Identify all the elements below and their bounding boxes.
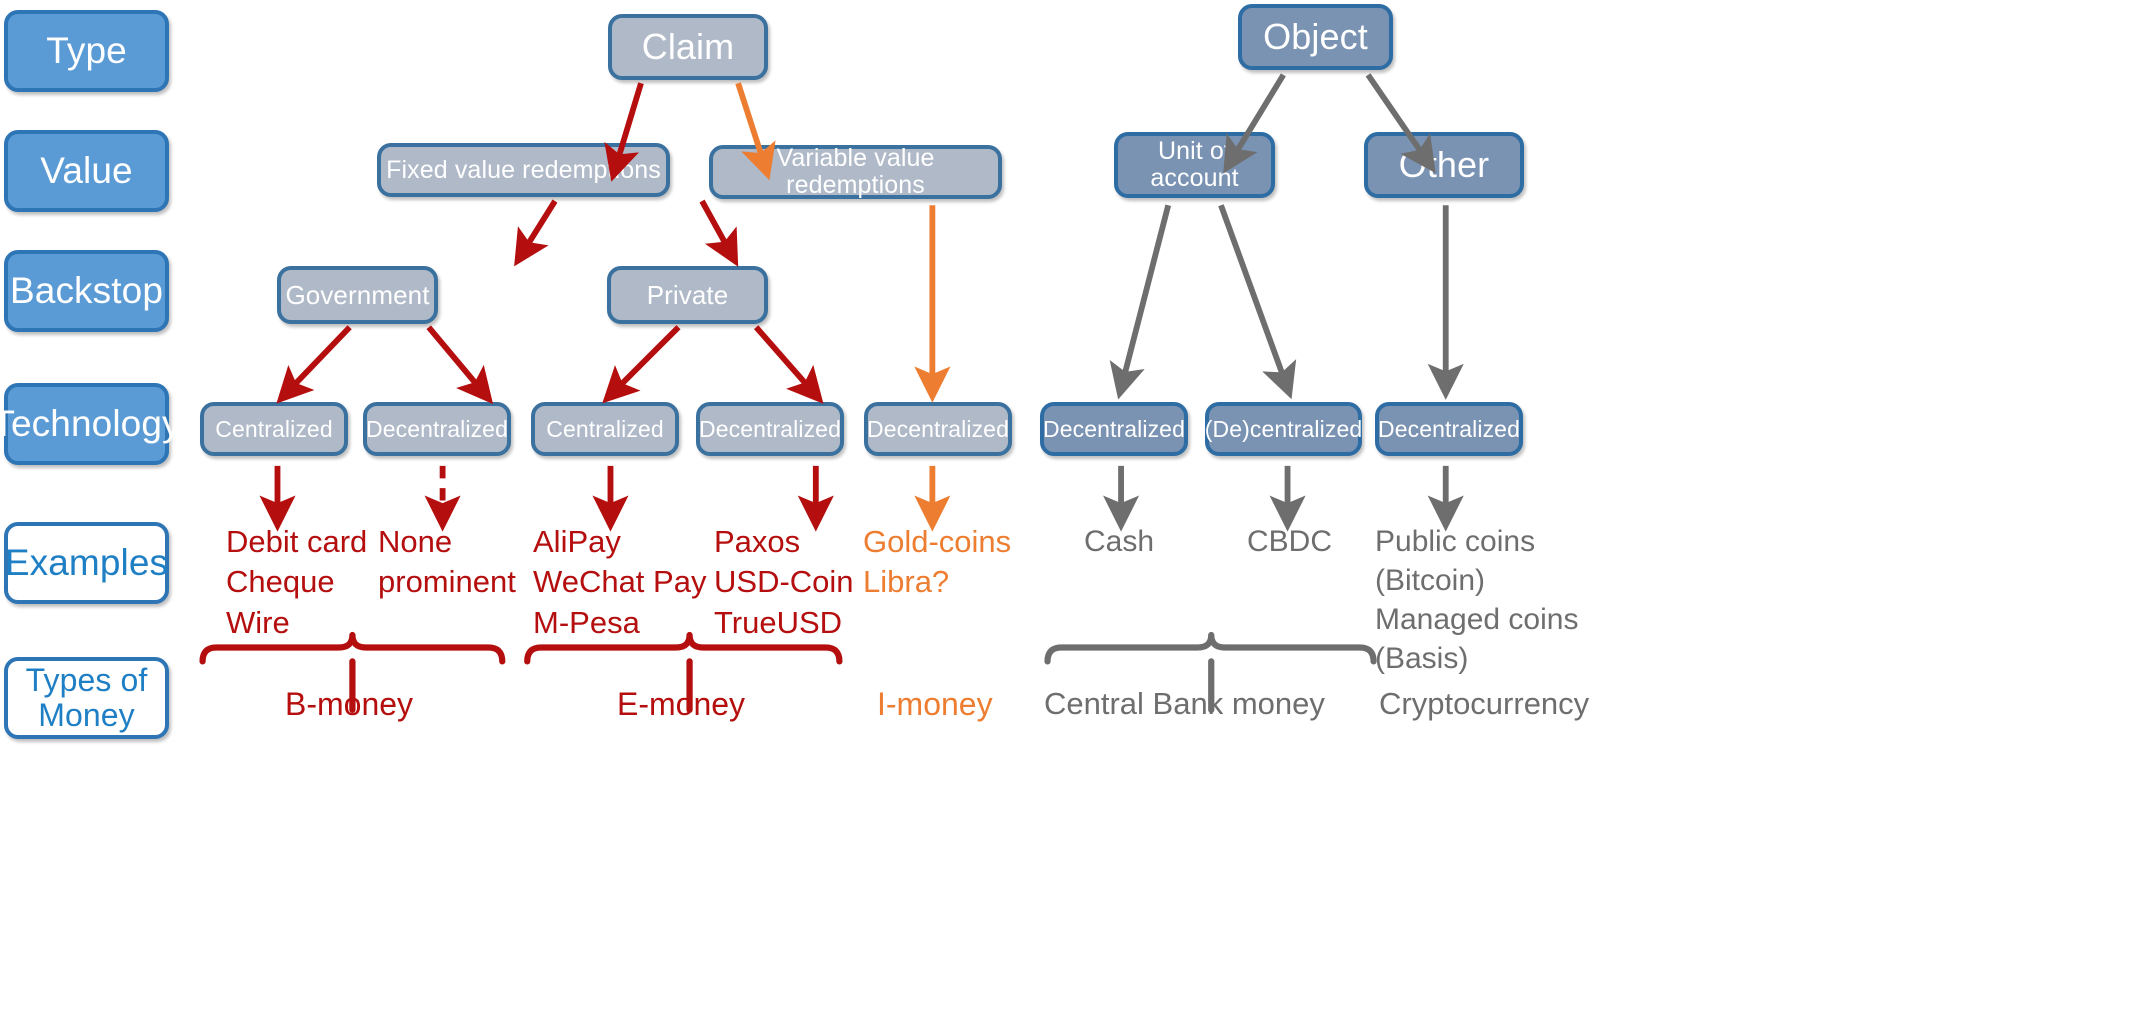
node-tech-centralized-1[interactable]: Centralized	[200, 402, 348, 456]
examples-public-coins: Public coins (Bitcoin) Managed coins (Ba…	[1375, 522, 1578, 678]
examples-paxos: Paxos USD-Coin TrueUSD	[714, 522, 854, 643]
node-private[interactable]: Private	[607, 266, 768, 324]
node-tech-decentralized-2[interactable]: Decentralized	[696, 402, 844, 456]
node-tech-decentralized-1[interactable]: Decentralized	[363, 402, 511, 456]
connector-overlay	[0, 0, 2145, 1033]
row-label-type[interactable]: Type	[4, 10, 169, 92]
money-type-central-bank-money: Central Bank money	[1044, 684, 1325, 724]
row-label-value[interactable]: Value	[4, 130, 169, 212]
node-tech-decentralized-5[interactable]: Decentralized	[1375, 402, 1523, 456]
row-label-examples[interactable]: Examples	[4, 522, 169, 604]
examples-cbdc: CBDC	[1247, 522, 1332, 561]
row-label-backstop[interactable]: Backstop	[4, 250, 169, 332]
node-variable-value-redemptions[interactable]: Variable value redemptions	[709, 145, 1002, 199]
row-label-types-of-money[interactable]: Types of Money	[4, 657, 169, 739]
node-tech-decentralized-3[interactable]: Decentralized	[864, 402, 1012, 456]
brace-central-bank-money	[1048, 635, 1374, 661]
money-type-cryptocurrency: Cryptocurrency	[1379, 684, 1589, 724]
row-label-technology[interactable]: Technology	[4, 383, 169, 465]
node-tech-centralized-2[interactable]: Centralized	[531, 402, 679, 456]
examples-debit-card: Debit card Cheque Wire	[226, 522, 367, 643]
node-tech-de-centralized[interactable]: (De)centralized	[1205, 402, 1362, 456]
node-object[interactable]: Object	[1238, 4, 1393, 70]
examples-gold-coins: Gold-coins Libra?	[863, 522, 1011, 603]
examples-alipay: AliPay WeChat Pay M-Pesa	[533, 522, 706, 643]
money-type-i-money: I-money	[877, 684, 993, 726]
node-other[interactable]: Other	[1364, 132, 1524, 198]
examples-cash: Cash	[1084, 522, 1154, 561]
node-fixed-value-redemptions[interactable]: Fixed value redemptions	[377, 143, 670, 197]
node-claim[interactable]: Claim	[608, 14, 768, 80]
money-type-e-money: E-money	[617, 684, 745, 726]
node-tech-decentralized-4[interactable]: Decentralized	[1040, 402, 1188, 456]
money-type-b-money: B-money	[285, 684, 413, 726]
money-tree-diagram: Type Value Backstop Technology Examples …	[0, 0, 2145, 1033]
node-government[interactable]: Government	[277, 266, 438, 324]
examples-none-prominent: None prominent	[378, 522, 516, 603]
node-unit-of-account[interactable]: Unit of account	[1114, 132, 1275, 198]
